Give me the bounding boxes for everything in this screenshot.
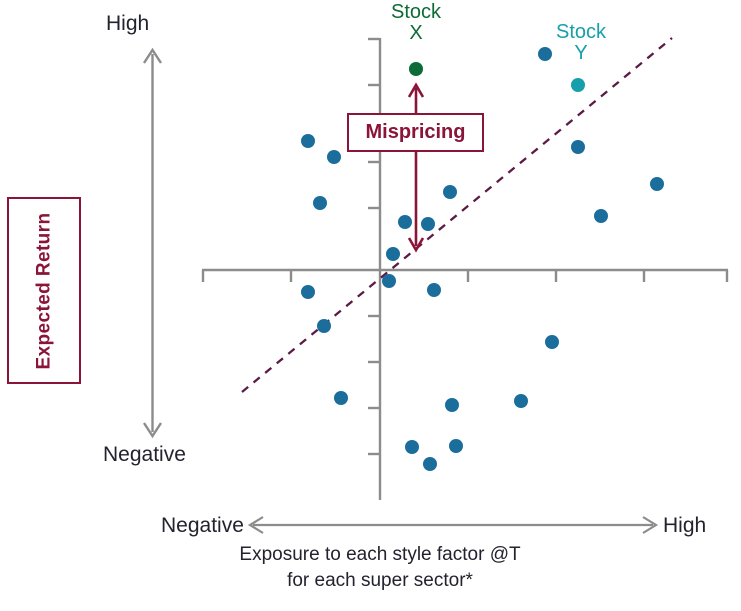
x-axis-high-label: High	[663, 514, 706, 538]
stock-y-callout: Stock Y	[545, 22, 617, 64]
data-point	[301, 285, 315, 299]
data-point	[449, 439, 463, 453]
mispricing-label: Mispricing	[365, 121, 465, 144]
stock-x-callout: Stock X	[380, 2, 452, 44]
x-axis-caption-line2: for each super sector*	[150, 568, 610, 594]
data-point	[571, 140, 585, 154]
data-point	[650, 177, 664, 191]
mispricing-callout-box: Mispricing	[347, 113, 484, 152]
x-axis-line	[202, 270, 728, 282]
data-point	[386, 247, 400, 261]
data-point	[317, 319, 331, 333]
stock-x-label-line2: X	[409, 22, 422, 44]
data-point	[327, 150, 341, 164]
data-point	[301, 134, 315, 148]
data-point	[545, 335, 559, 349]
data-point	[443, 185, 457, 199]
x-axis-caption: Exposure to each style factor @T for eac…	[150, 542, 610, 593]
data-point	[334, 391, 348, 405]
stock-y-point	[571, 78, 585, 92]
data-point	[445, 398, 459, 412]
data-point	[421, 217, 435, 231]
stock-y-label-line1: Stock	[556, 21, 606, 43]
data-point	[427, 283, 441, 297]
data-point	[398, 215, 412, 229]
x-axis-magnitude-arrow	[243, 510, 663, 540]
x-axis-negative-label: Negative	[161, 514, 244, 538]
data-point	[423, 457, 437, 471]
data-point	[594, 209, 608, 223]
x-axis-caption-line1: Exposure to each style factor @T	[150, 542, 610, 568]
data-point	[405, 440, 419, 454]
stock-x-label-line1: Stock	[391, 1, 441, 23]
stock-x-point	[409, 62, 423, 76]
scatter-points-series	[301, 47, 664, 471]
data-point	[514, 394, 528, 408]
data-point	[313, 196, 327, 210]
chart-canvas: Expected Return High Negative	[0, 0, 741, 611]
stock-y-label-line2: Y	[574, 42, 587, 64]
data-point	[382, 274, 396, 288]
